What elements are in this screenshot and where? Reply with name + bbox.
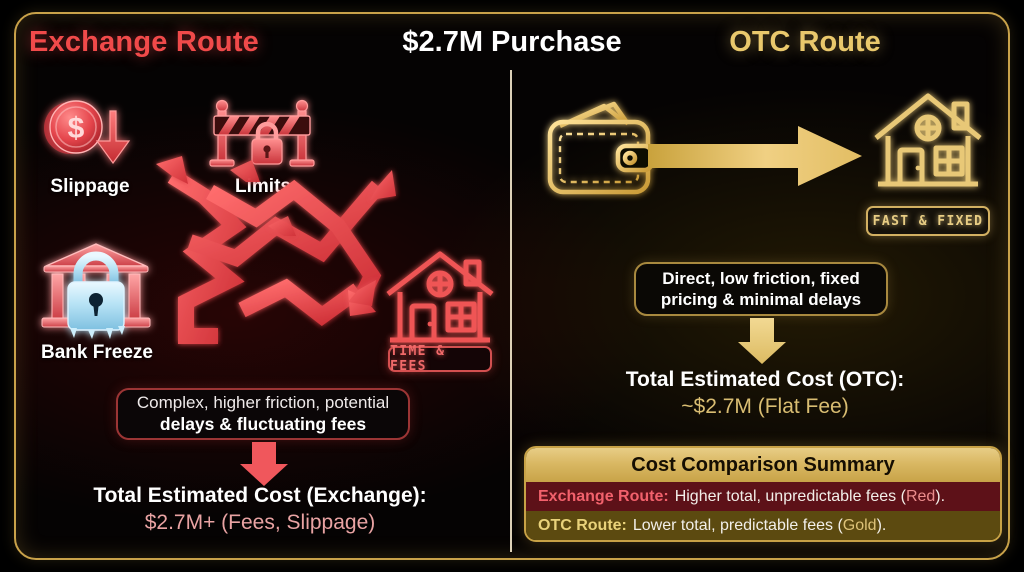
total-exchange-value: $2.7M+ (Fees, Slippage) [40,511,480,535]
total-otc: Total Estimated Cost (OTC): ~$2.7M (Flat… [560,368,970,419]
wallet-icon [544,96,658,202]
summary-row-otc: OTC Route: Lower total, predictable fees… [526,511,1000,540]
summary-row-otc-key: OTC Route: [538,517,627,535]
down-arrow-gold-icon [734,318,790,364]
callout-exchange-line2: delays & fluctuating fees [160,414,366,436]
summary-row-otc-suffix: ). [877,517,887,535]
infographic-stage: Exchange Route $2.7M Purchase OTC Route [0,0,1024,572]
total-exchange-label: Total Estimated Cost (Exchange): [40,484,480,508]
down-arrow-red-icon [236,442,292,486]
summary-row-exchange: Exchange Route: Higher total, unpredicta… [526,482,1000,511]
page-title-otc: OTC Route [549,26,1024,59]
house-icon [382,248,498,352]
total-otc-value: ~$2.7M (Flat Fee) [560,395,970,419]
summary-row-otc-tag: Gold [843,517,877,535]
summary-row-exchange-key: Exchange Route: [538,488,669,506]
cost-comparison-summary: Cost Comparison Summary Exchange Route: … [524,446,1002,542]
tangled-red-arrows-icon [126,130,416,370]
header-row: Exchange Route $2.7M Purchase OTC Route [0,26,1024,70]
summary-row-exchange-suffix: ). [935,488,945,506]
summary-row-exchange-tag: Red [906,488,935,506]
summary-title: Cost Comparison Summary [526,448,1000,482]
total-otc-label: Total Estimated Cost (OTC): [560,368,970,392]
callout-otc: Direct, low friction, fixed pricing & mi… [634,262,888,316]
status-badge-time-fees: TIME & FEES [388,346,492,372]
callout-otc-line2: pricing & minimal delays [661,289,861,310]
total-exchange: Total Estimated Cost (Exchange): $2.7M+ … [40,484,480,535]
callout-exchange: Complex, higher friction, potential dela… [116,388,410,440]
house-icon [870,88,986,200]
svg-text:$: $ [68,112,85,145]
callout-otc-line1: Direct, low friction, fixed [662,268,859,289]
summary-row-exchange-value: Higher total, unpredictable fees ( [675,488,906,506]
callout-exchange-line1: Complex, higher friction, potential [137,392,389,413]
straight-gold-arrow-icon [648,124,864,188]
panel-divider [510,70,512,552]
status-badge-fast-fixed: FAST & FIXED [866,206,990,236]
summary-row-otc-value: Lower total, predictable fees ( [633,517,843,535]
